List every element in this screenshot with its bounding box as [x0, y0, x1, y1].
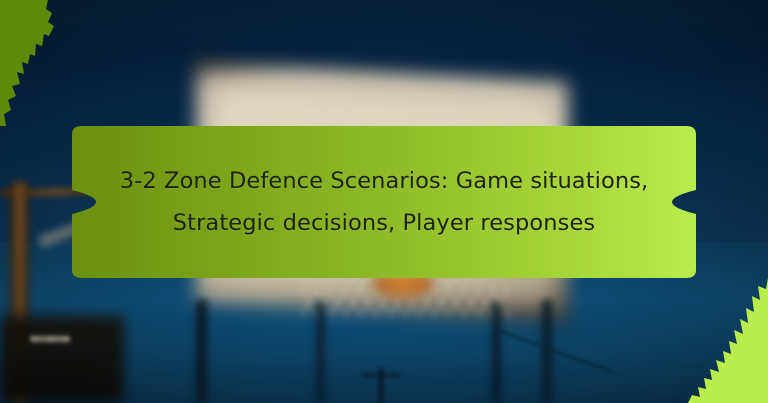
title-line-2: Strategic decisions, Player responses [173, 202, 595, 244]
title-line-1: 3-2 Zone Defence Scenarios: Game situati… [120, 160, 649, 202]
banner-title: 3-2 Zone Defence Scenarios: Game situati… [64, 126, 704, 278]
title-ribbon-banner: 3-2 Zone Defence Scenarios: Game situati… [64, 126, 704, 278]
title-card: 3-2 Zone Defence Scenarios: Game situati… [0, 0, 768, 403]
